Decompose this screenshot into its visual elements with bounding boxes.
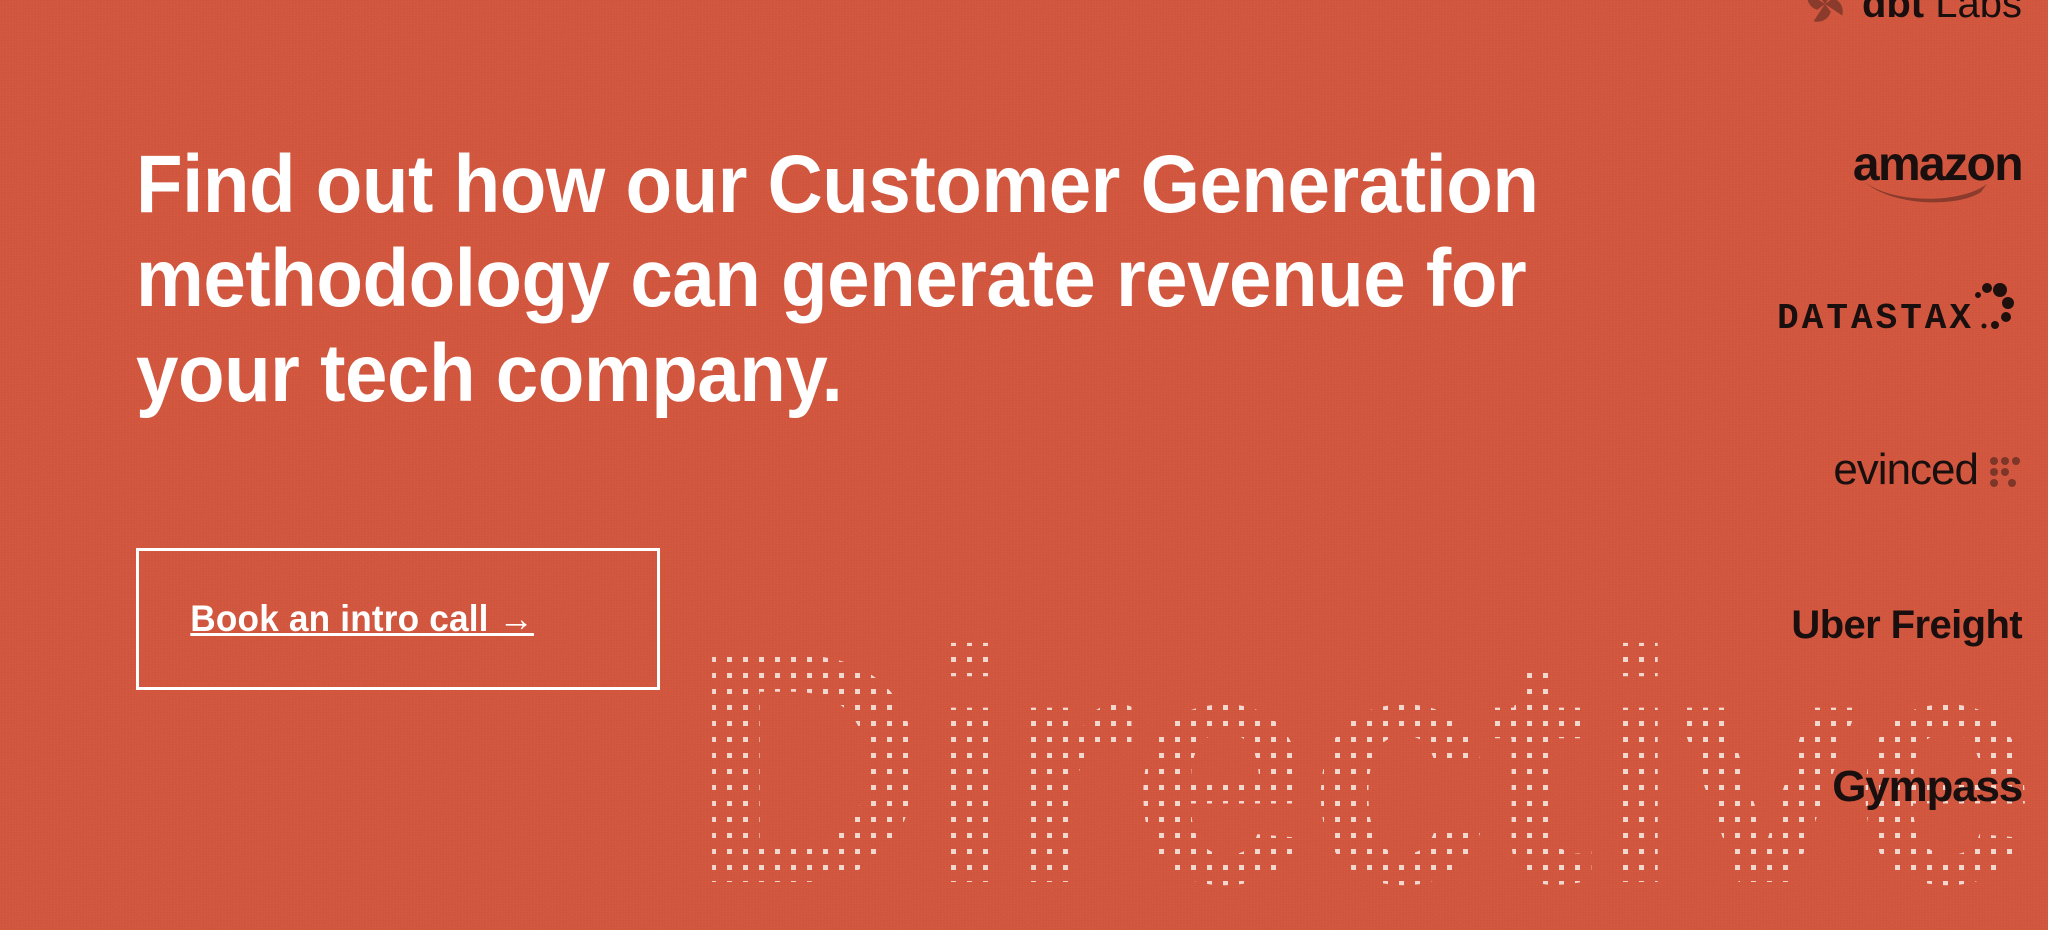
partial-logo-icon (1932, 915, 2022, 930)
client-logo-rail: dbt Labs amazon DATASTAX (1688, 0, 2048, 930)
logo-datastax: DATASTAX (1777, 288, 2022, 348)
hero-content: Find out how our Customer Generation met… (136, 138, 1696, 421)
dbt-propeller-icon (1802, 0, 1848, 27)
logo-evinced-label: evinced (1833, 445, 1978, 495)
evinced-dot-grid-icon (1988, 455, 2022, 489)
page-title-line-3: your tech company. (136, 327, 1587, 421)
logo-next-partial (1932, 905, 2022, 930)
amazon-smile-icon (1861, 178, 1993, 204)
logo-amazon: amazon (1853, 134, 2022, 194)
logo-gympass-label: Gympass (1832, 762, 2022, 812)
datastax-dot-arc-icon (1962, 279, 2022, 339)
page-title: Find out how our Customer Generation (136, 138, 1587, 232)
logo-uber-freight-label: Uber Freight (1791, 603, 2022, 648)
book-intro-call-label: Book an intro call → (139, 598, 534, 640)
book-intro-call-button[interactable]: Book an intro call → (136, 548, 660, 690)
logo-uber-freight: Uber Freight (1791, 595, 2022, 655)
logo-gympass: Gympass (1832, 757, 2022, 817)
page-title-line-2: methodology can generate revenue for (136, 232, 1587, 326)
logo-datastax-label: DATASTAX (1777, 298, 1974, 339)
logo-dbt-labs-label: dbt Labs (1862, 0, 2022, 27)
hero-section: Directive Find out how our Customer Gene… (0, 0, 2048, 930)
logo-evinced: evinced (1833, 440, 2022, 500)
logo-dbt-labs: dbt Labs (1802, 0, 2022, 34)
